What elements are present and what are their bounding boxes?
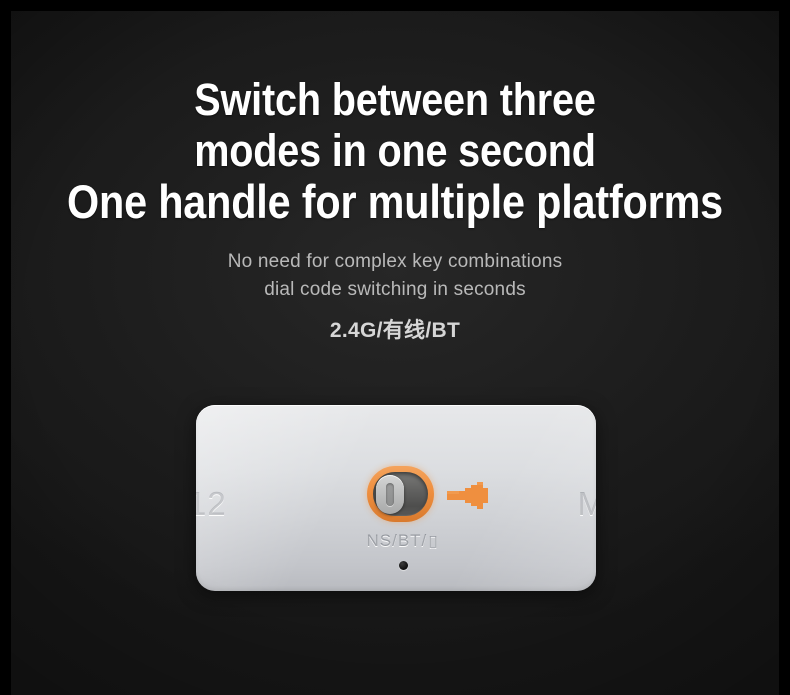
subcopy-block: No need for complex key combinations dia… (11, 248, 779, 304)
headline-block: Switch between three modes in one second… (57, 74, 733, 227)
subcopy-line-1: No need for complex key combinations (11, 248, 779, 276)
headline-line-1: Switch between three (57, 74, 733, 125)
pixel-arrow-right-icon (447, 479, 491, 512)
switch-caption: NS/BT/⌷ (328, 531, 478, 553)
mode-slide-switch[interactable] (367, 466, 434, 522)
switch-caption-text: NS/BT/ (367, 531, 428, 550)
promo-frame: Switch between three modes in one second… (0, 0, 790, 695)
pc-mode-icon: ⌷ (428, 533, 439, 553)
subcopy-line-2: dial code switching in seconds (11, 276, 779, 304)
device-photo-panel: 12 M (196, 405, 596, 591)
connection-modes-label: 2.4G/有线/BT (11, 314, 779, 344)
headline-line-3: One handle for multiple platforms (57, 176, 733, 227)
promo-stage: Switch between three modes in one second… (11, 11, 779, 695)
headline-line-2: modes in one second (57, 125, 733, 176)
device-marking-left: 12 (196, 485, 227, 523)
switch-knob[interactable] (376, 475, 404, 514)
device-marking-right: M (578, 485, 597, 523)
switch-track (373, 472, 428, 516)
status-led (399, 561, 408, 570)
